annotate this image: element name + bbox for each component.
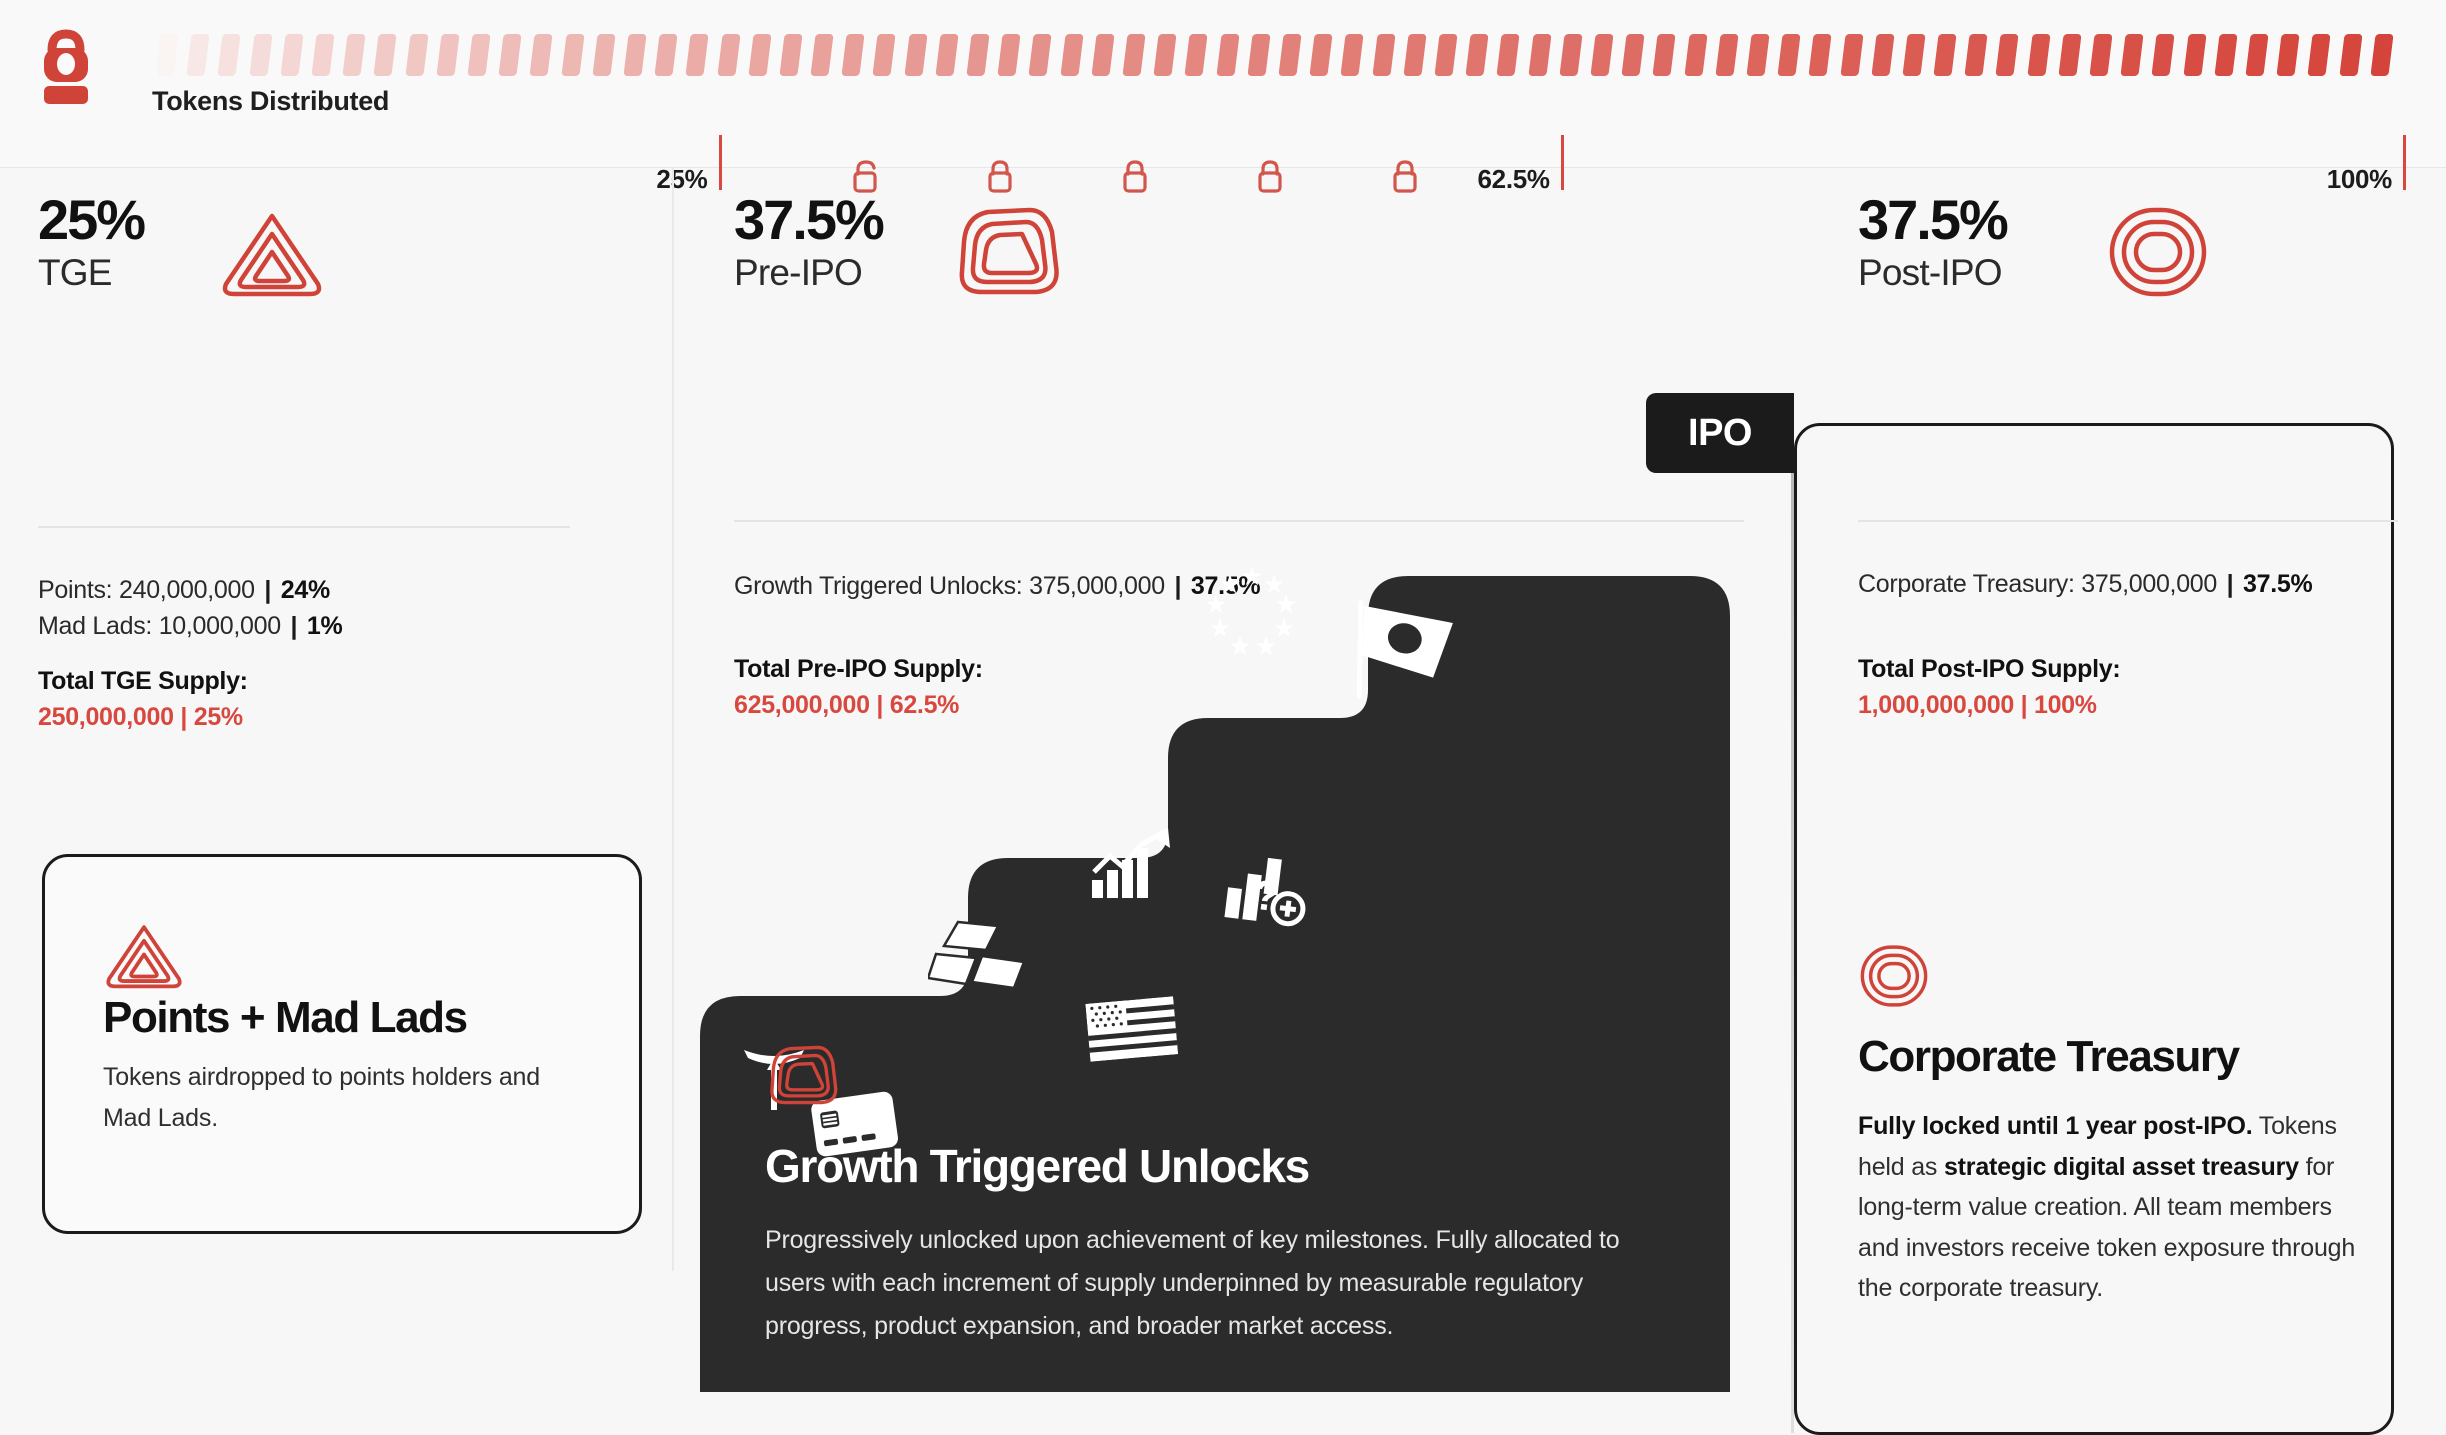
progress-segment <box>280 34 303 76</box>
progress-segment <box>1809 34 1832 76</box>
progress-header: 25%62.5%100% Tokens Distributed <box>0 0 2446 168</box>
progress-segment <box>842 34 865 76</box>
tge-phase-label: TGE <box>38 252 618 295</box>
list-item: Mad Lads: 10,000,000 | 1% <box>38 608 638 644</box>
progress-segment <box>1778 34 1801 76</box>
gold-bars-icon <box>928 916 1030 999</box>
progress-segment <box>467 34 490 76</box>
post-ipo-total-block: Total Post-IPO Supply: 1,000,000,000 | 1… <box>1858 652 2120 723</box>
alloc-separator: | <box>287 612 300 640</box>
nested-wedge-icon <box>952 202 1064 305</box>
alloc-pct: 37.5% <box>2243 570 2312 598</box>
tge-divider <box>38 526 570 528</box>
progress-segment <box>218 34 241 76</box>
progress-segment <box>873 34 896 76</box>
progress-segment <box>158 34 179 76</box>
progress-segment <box>1434 34 1457 76</box>
points-card-title: Points + Mad Lads <box>103 993 467 1043</box>
progress-segment <box>655 34 678 76</box>
progress-segment <box>1029 34 1052 76</box>
post-ipo-allocation-list: Corporate Treasury: 375,000,000 | 37.5% <box>1858 566 2312 602</box>
treasury-strong: strategic digital asset treasury <box>1944 1153 2299 1181</box>
progress-segment <box>2214 34 2237 76</box>
progress-segment <box>1372 34 1395 76</box>
nested-oval-icon <box>2106 204 2210 305</box>
chart-increasing-icon <box>1090 828 1174 909</box>
progress-segment <box>530 34 553 76</box>
progress-segment <box>1902 34 1925 76</box>
progress-segment <box>2183 34 2206 76</box>
list-item: Corporate Treasury: 375,000,000 | 37.5% <box>1858 566 2312 602</box>
progress-segment <box>2152 34 2175 76</box>
progress-segment <box>2245 34 2268 76</box>
progress-segment <box>1247 34 1270 76</box>
progress-segment <box>998 34 1021 76</box>
progress-segment <box>405 34 428 76</box>
alloc-pct: 24% <box>281 576 330 604</box>
growth-card-description: Progressively unlocked upon achievement … <box>765 1219 1670 1348</box>
column-divider-left <box>672 168 674 1271</box>
list-item: Points: 240,000,000 | 24% <box>38 572 638 608</box>
progress-segment <box>249 34 272 76</box>
progress-segment <box>1497 34 1520 76</box>
alloc-label: Mad Lads: <box>38 612 152 640</box>
alloc-amount: 375,000,000 <box>2081 570 2217 598</box>
progress-segment <box>311 34 334 76</box>
alloc-label: Corporate Treasury: <box>1858 570 2075 598</box>
points-card-description: Tokens airdropped to points holders and … <box>103 1057 583 1138</box>
progress-segment <box>779 34 802 76</box>
progress-segment <box>499 34 522 76</box>
progress-segment <box>1996 34 2019 76</box>
alloc-separator: | <box>2224 570 2237 598</box>
progress-segment <box>374 34 397 76</box>
ipo-badge-label: IPO <box>1688 412 1752 455</box>
progress-segment <box>810 34 833 76</box>
progress-segment <box>343 34 366 76</box>
progress-segment <box>686 34 709 76</box>
progress-segment <box>1091 34 1114 76</box>
progress-segment <box>2277 34 2300 76</box>
progress-segment <box>1060 34 1083 76</box>
tge-total-value: 250,000,000 | 25% <box>38 700 248 736</box>
progress-segment <box>2339 34 2362 76</box>
progress-segment <box>1684 34 1707 76</box>
progress-segment <box>2308 34 2331 76</box>
progress-segment <box>1590 34 1613 76</box>
nested-triangle-icon <box>218 206 326 307</box>
progress-segment <box>1559 34 1582 76</box>
progress-segment <box>1122 34 1145 76</box>
alloc-amount: 240,000,000 <box>119 576 255 604</box>
progress-segment <box>1933 34 1956 76</box>
alloc-pct: 1% <box>307 612 343 640</box>
growth-card-title: Growth Triggered Unlocks <box>765 1139 1670 1193</box>
corporate-treasury-block: Corporate Treasury Fully locked until 1 … <box>1858 943 2358 1309</box>
progress-segment <box>2121 34 2144 76</box>
progress-segment <box>1278 34 1301 76</box>
post-ipo-header: 37.5% Post-IPO <box>1858 192 2418 322</box>
growth-triggered-unlocks-card[interactable]: ? <box>700 446 1730 1392</box>
growth-card-text: Growth Triggered Unlocks Progressively u… <box>765 1042 1670 1348</box>
progress-segment <box>935 34 958 76</box>
tge-allocation-list: Points: 240,000,000 | 24% Mad Lads: 10,0… <box>38 572 638 645</box>
nested-oval-icon <box>1858 943 2358 1014</box>
treasury-title: Corporate Treasury <box>1858 1032 2358 1082</box>
progress-segment <box>1154 34 1177 76</box>
progress-segment <box>1871 34 1894 76</box>
points-mad-lads-card[interactable]: Points + Mad Lads Tokens airdropped to p… <box>42 854 642 1234</box>
distribution-progress-bar <box>158 30 2404 82</box>
phases-body: 25% TGE Points: 240,000,000 | 24% Mad La… <box>0 168 2446 1271</box>
pre-ipo-header: 37.5% Pre-IPO <box>734 192 1334 322</box>
tge-total-block: Total TGE Supply: 250,000,000 | 25% <box>38 664 248 735</box>
eu-stars-icon <box>1206 564 1298 661</box>
progress-segment <box>2089 34 2112 76</box>
post-ipo-total-label: Total Post-IPO Supply: <box>1858 652 2120 688</box>
progress-segment <box>1528 34 1551 76</box>
progress-bar-title: Tokens Distributed <box>152 86 389 117</box>
progress-segment <box>748 34 771 76</box>
tge-total-label: Total TGE Supply: <box>38 664 248 700</box>
progress-segment <box>904 34 927 76</box>
progress-segment <box>1310 34 1333 76</box>
tge-header: 25% TGE <box>38 192 618 322</box>
alloc-label: Points: <box>38 576 112 604</box>
post-ipo-divider <box>1858 520 2398 522</box>
progress-segment <box>1216 34 1239 76</box>
tge-percent: 25% <box>38 192 618 248</box>
progress-segment <box>1715 34 1738 76</box>
progress-segment <box>623 34 646 76</box>
progress-segment <box>1341 34 1364 76</box>
progress-segment <box>966 34 989 76</box>
progress-segment <box>1403 34 1426 76</box>
progress-segment <box>1965 34 1988 76</box>
progress-segment <box>436 34 459 76</box>
ipo-badge: IPO <box>1646 393 1794 473</box>
post-ipo-total-value: 1,000,000,000 | 100% <box>1858 688 2120 724</box>
progress-segment <box>1466 34 1489 76</box>
alloc-amount: 10,000,000 <box>159 612 281 640</box>
progress-segment <box>717 34 740 76</box>
progress-segment <box>592 34 615 76</box>
progress-segment <box>2058 34 2081 76</box>
alloc-separator: | <box>261 576 274 604</box>
progress-segment <box>1653 34 1676 76</box>
treasury-description: Fully locked until 1 year post-IPO. Toke… <box>1858 1106 2358 1309</box>
progress-segment <box>2370 34 2393 76</box>
treasury-lead: Fully locked until 1 year post-IPO. <box>1858 1112 2252 1140</box>
progress-segment <box>1622 34 1645 76</box>
progress-segment <box>2027 34 2050 76</box>
chart-with-plus-icon: ? <box>1221 843 1313 937</box>
progress-segment <box>187 34 210 76</box>
progress-segment <box>1840 34 1863 76</box>
progress-segment <box>1185 34 1208 76</box>
nested-triangle-icon <box>103 919 185 998</box>
progress-segment <box>561 34 584 76</box>
progress-segment <box>1746 34 1769 76</box>
nested-wedge-icon <box>765 1042 1670 1113</box>
